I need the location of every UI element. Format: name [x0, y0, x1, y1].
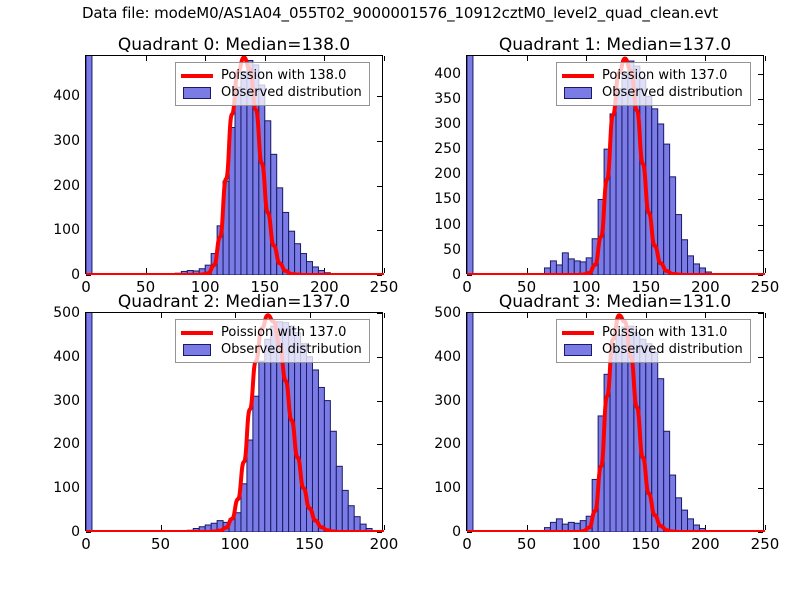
histogram-bar — [688, 256, 694, 275]
histogram-bar — [330, 431, 336, 532]
ytick-mark — [467, 275, 472, 276]
legend-line-icon — [562, 331, 594, 335]
ytick-mark — [86, 275, 91, 276]
xtick-mark — [765, 268, 766, 273]
legend-entry-observed: Observed distribution — [562, 341, 743, 358]
histogram-bar — [682, 240, 688, 275]
ytick-label-quadrant-0-2: 200 — [53, 178, 80, 194]
legend-label-poisson: Poission with 137.0 — [221, 325, 346, 340]
legend-quadrant-2[interactable]: Poission with 137.0Observed distribution — [175, 319, 370, 363]
ytick-mark — [86, 532, 91, 533]
legend-label-observed: Observed distribution — [221, 85, 362, 100]
ytick-label-quadrant-2-4: 400 — [53, 349, 80, 365]
legend-entry-poisson: Poission with 137.0 — [562, 67, 743, 84]
histogram-bar — [318, 387, 324, 532]
ytick-label-quadrant-3-5: 500 — [434, 305, 461, 321]
histogram-bar — [265, 339, 271, 532]
histogram-bar — [235, 87, 241, 275]
ytick-label-quadrant-1-0: 0 — [452, 267, 461, 283]
ytick-label-quadrant-3-4: 400 — [434, 349, 461, 365]
ytick-mark — [377, 532, 382, 533]
xtick-mark — [384, 268, 385, 273]
axes-quadrant-0: Quadrant 0: Median=138.00100200300400050… — [85, 55, 383, 274]
ytick-label-quadrant-1-2: 100 — [434, 217, 461, 233]
xtick-label-quadrant-3-3: 150 — [631, 535, 660, 553]
legend-line-swatch — [562, 326, 594, 340]
ytick-label-quadrant-2-1: 100 — [53, 480, 80, 496]
histogram-bar — [670, 475, 676, 532]
ytick-label-quadrant-2-3: 300 — [53, 393, 80, 409]
histogram-bar — [682, 510, 688, 532]
xtick-label-quadrant-3-1: 50 — [517, 535, 536, 553]
xtick-label-quadrant-2-3: 150 — [295, 535, 324, 553]
legend-label-poisson: Poission with 138.0 — [221, 68, 346, 83]
subplot-quadrant-1: Quadrant 1: Median=137.00501001502002503… — [466, 55, 764, 274]
ytick-label-quadrant-0-4: 400 — [53, 88, 80, 104]
legend-entry-observed: Observed distribution — [181, 84, 362, 101]
ytick-label-quadrant-2-0: 0 — [71, 524, 80, 540]
histogram-bar — [253, 396, 259, 532]
legend-label-observed: Observed distribution — [602, 342, 743, 357]
xtick-mark — [384, 525, 385, 530]
figure-suptitle: Data file: modeM0/AS1A04_055T02_90000015… — [0, 4, 800, 22]
xtick-mark — [765, 56, 766, 61]
figure-canvas: Data file: modeM0/AS1A04_055T02_90000015… — [0, 0, 800, 600]
histogram-bar — [348, 506, 354, 532]
ytick-mark — [467, 532, 472, 533]
legend-patch-swatch — [562, 343, 594, 357]
histogram-bar — [562, 253, 568, 275]
axes-quadrant-1: Quadrant 1: Median=137.00501001502002503… — [466, 55, 764, 274]
histogram-bar — [289, 231, 295, 275]
xtick-label-quadrant-2-4: 200 — [370, 535, 399, 553]
legend-entry-observed: Observed distribution — [562, 84, 743, 101]
histogram-bar — [86, 56, 92, 275]
histogram-bar — [676, 215, 682, 275]
histogram-bar — [86, 313, 92, 532]
legend-patch-swatch — [562, 86, 594, 100]
ytick-label-quadrant-2-2: 200 — [53, 436, 80, 452]
legend-label-observed: Observed distribution — [221, 342, 362, 357]
axes-title-quadrant-1: Quadrant 1: Median=137.0 — [467, 35, 763, 55]
legend-label-poisson: Poission with 137.0 — [602, 68, 727, 83]
histogram-bar — [467, 56, 473, 275]
ytick-label-quadrant-1-5: 250 — [434, 141, 461, 157]
histogram-bar — [676, 498, 682, 532]
histogram-bar — [301, 254, 307, 275]
histogram-bar — [616, 89, 622, 275]
xtick-mark — [765, 313, 766, 318]
xtick-label-quadrant-2-0: 0 — [81, 535, 91, 553]
axes-quadrant-2: Quadrant 2: Median=137.00100200300400500… — [85, 312, 383, 531]
ytick-label-quadrant-0-1: 100 — [53, 222, 80, 238]
legend-label-poisson: Poission with 131.0 — [602, 325, 727, 340]
xtick-label-quadrant-2-2: 100 — [221, 535, 250, 553]
axes-title-quadrant-2: Quadrant 2: Median=137.0 — [86, 292, 382, 312]
ytick-label-quadrant-1-7: 350 — [434, 91, 461, 107]
legend-entry-poisson: Poission with 131.0 — [562, 324, 743, 341]
subplot-quadrant-3: Quadrant 3: Median=131.00100200300400500… — [466, 312, 764, 531]
histogram-bar — [670, 177, 676, 275]
legend-entry-poisson: Poission with 137.0 — [181, 324, 362, 341]
legend-line-icon — [181, 331, 213, 335]
axes-quadrant-3: Quadrant 3: Median=131.00100200300400500… — [466, 312, 764, 531]
legend-quadrant-3[interactable]: Poission with 131.0Observed distribution — [556, 319, 751, 363]
ytick-label-quadrant-0-0: 0 — [71, 267, 80, 283]
ytick-label-quadrant-1-6: 300 — [434, 116, 461, 132]
histogram-bar — [550, 261, 556, 275]
xtick-mark — [384, 56, 385, 61]
legend-label-observed: Observed distribution — [602, 85, 743, 100]
ytick-label-quadrant-1-3: 150 — [434, 191, 461, 207]
histogram-bar — [235, 513, 241, 532]
ytick-label-quadrant-3-3: 300 — [434, 393, 461, 409]
subplot-quadrant-0: Quadrant 0: Median=138.00100200300400050… — [85, 55, 383, 274]
legend-line-icon — [181, 74, 213, 78]
ytick-label-quadrant-3-2: 200 — [434, 436, 461, 452]
histogram-bar — [307, 262, 313, 275]
ytick-label-quadrant-3-1: 100 — [434, 480, 461, 496]
histogram-bar — [295, 244, 301, 275]
legend-patch-icon — [564, 344, 592, 356]
xtick-label-quadrant-2-1: 50 — [151, 535, 170, 553]
histogram-bar — [247, 440, 253, 532]
ytick-mark — [758, 532, 763, 533]
legend-entry-poisson: Poission with 138.0 — [181, 67, 362, 84]
legend-patch-swatch — [181, 86, 213, 100]
ytick-label-quadrant-1-1: 50 — [443, 242, 461, 258]
histogram-bar — [354, 517, 360, 532]
legend-quadrant-0[interactable]: Poission with 138.0Observed distribution — [175, 62, 370, 106]
xtick-mark — [384, 313, 385, 318]
legend-line-swatch — [562, 69, 594, 83]
histogram-bar — [664, 431, 670, 532]
legend-patch-icon — [183, 344, 211, 356]
xtick-label-quadrant-3-0: 0 — [462, 535, 472, 553]
histogram-bar — [467, 313, 473, 532]
ytick-label-quadrant-2-5: 500 — [53, 305, 80, 321]
ytick-label-quadrant-3-0: 0 — [452, 524, 461, 540]
axes-title-quadrant-0: Quadrant 0: Median=138.0 — [86, 35, 382, 55]
legend-line-swatch — [181, 69, 213, 83]
xtick-label-quadrant-3-4: 200 — [691, 535, 720, 553]
histogram-bar — [664, 144, 670, 275]
xtick-mark — [765, 525, 766, 530]
axes-title-quadrant-3: Quadrant 3: Median=131.0 — [467, 292, 763, 312]
legend-patch-swatch — [181, 343, 213, 357]
histogram-bar — [616, 335, 622, 532]
ytick-mark — [758, 275, 763, 276]
histogram-bar — [342, 490, 348, 532]
legend-line-icon — [562, 74, 594, 78]
legend-line-swatch — [181, 326, 213, 340]
legend-quadrant-1[interactable]: Poission with 137.0Observed distribution — [556, 62, 751, 106]
histogram-bar — [259, 361, 265, 532]
ytick-mark — [377, 275, 382, 276]
subplot-quadrant-2: Quadrant 2: Median=137.00100200300400500… — [85, 312, 383, 531]
xtick-label-quadrant-3-2: 100 — [572, 535, 601, 553]
legend-entry-observed: Observed distribution — [181, 341, 362, 358]
histogram-bar — [568, 259, 574, 275]
ytick-label-quadrant-0-3: 300 — [53, 133, 80, 149]
histogram-bar — [336, 466, 342, 532]
ytick-label-quadrant-1-8: 400 — [434, 66, 461, 82]
histogram-bar — [312, 370, 318, 532]
ytick-label-quadrant-1-4: 200 — [434, 166, 461, 182]
histogram-bar — [324, 401, 330, 532]
legend-patch-icon — [183, 87, 211, 99]
xtick-label-quadrant-3-5: 250 — [751, 535, 780, 553]
legend-patch-icon — [564, 87, 592, 99]
histogram-bar — [658, 379, 664, 532]
